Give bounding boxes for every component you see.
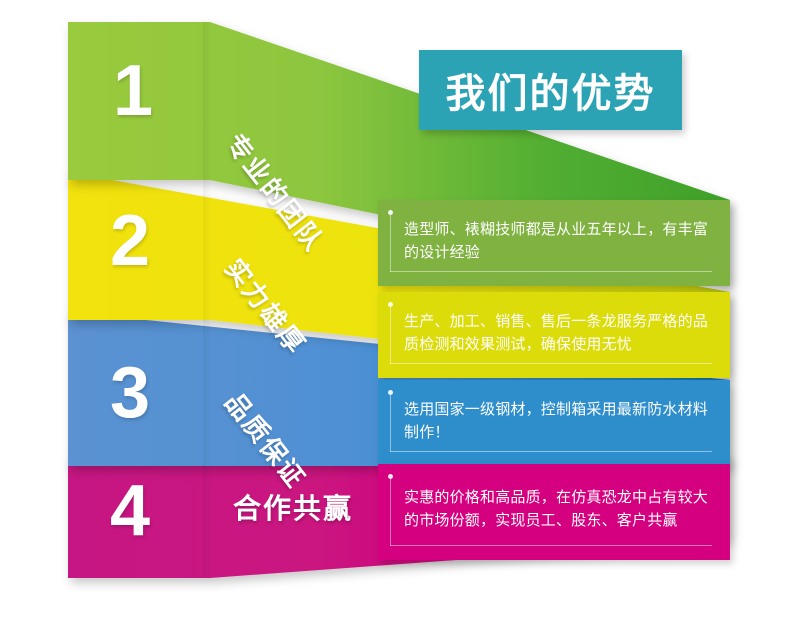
- band-label-4: 合作共赢: [233, 487, 353, 527]
- block-edge-2: [203, 180, 212, 320]
- detail-text-1: 造型师、裱糊技师都是从业五年以上，有丰富的设计经验: [404, 218, 708, 265]
- step-number-4: 4: [110, 475, 149, 547]
- step-number-3: 3: [110, 357, 149, 429]
- step-number-1: 1: [113, 55, 152, 127]
- accent-line-horizontal: [390, 451, 712, 452]
- block-edge-3: [203, 320, 212, 466]
- accent-line-vertical: [390, 479, 391, 546]
- accent-line-vertical: [390, 395, 391, 452]
- detail-text-3: 选用国家一级钢材，控制箱采用最新防水材料制作！: [404, 398, 708, 445]
- accent-line-vertical: [390, 215, 391, 272]
- detail-panel-3: 选用国家一级钢材，控制箱采用最新防水材料制作！: [378, 380, 730, 466]
- detail-panel-4: 实惠的价格和高品质，在仿真恐龙中占有较大的市场份额，实现员工、股东、客户共赢: [378, 464, 730, 560]
- title-banner: 我们的优势: [419, 50, 682, 130]
- page-title: 我们的优势: [419, 50, 682, 130]
- block-edge-1: [203, 22, 212, 180]
- detail-text-4: 实惠的价格和高品质，在仿真恐龙中占有较大的市场份额，实现员工、股东、客户共赢: [404, 486, 708, 533]
- step-number-2: 2: [110, 205, 149, 277]
- detail-text-2: 生产、加工、销售、售后一条龙服务严格的品质检测和效果测试，确保使用无忧: [404, 310, 708, 357]
- block-edge-4: [203, 466, 212, 578]
- detail-panel-1: 造型师、裱糊技师都是从业五年以上，有丰富的设计经验: [378, 200, 730, 286]
- accent-line-horizontal: [390, 545, 712, 546]
- infographic-canvas: 1 2 3 4 专业的团队 实力雄厚 品质保证 合作共赢 造型师、裱糊技师都是从…: [0, 0, 800, 622]
- accent-line-vertical: [390, 307, 391, 364]
- accent-line-horizontal: [390, 271, 712, 272]
- detail-panel-2: 生产、加工、销售、售后一条龙服务严格的品质检测和效果测试，确保使用无忧: [378, 292, 730, 378]
- accent-line-horizontal: [390, 363, 712, 364]
